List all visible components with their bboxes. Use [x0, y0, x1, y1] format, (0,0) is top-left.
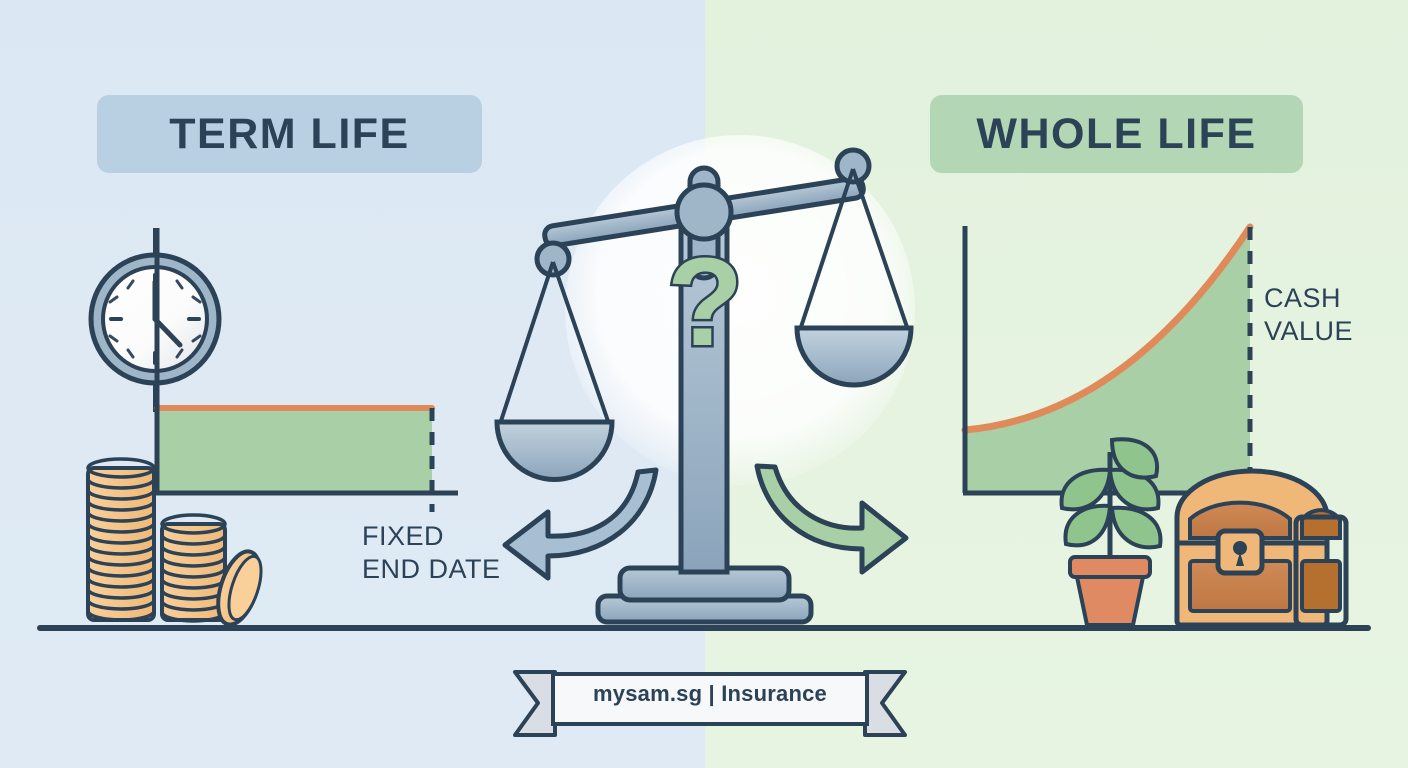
- question-mark-icon: ?: [667, 233, 743, 372]
- fixed-end-date-line1: FIXED: [362, 520, 542, 553]
- coin-stack-icon: [88, 459, 154, 620]
- treasure-chest-icon: [1177, 471, 1346, 625]
- ribbon-label: mysam.sg | Insurance: [560, 681, 860, 707]
- illustration-layer: ?: [0, 0, 1408, 768]
- curved-arrow-right-icon: [757, 466, 906, 572]
- infographic-canvas: TERM LIFE WHOLE LIFE: [0, 0, 1408, 768]
- cash-value-label: CASH VALUE: [1264, 282, 1408, 348]
- fixed-end-date-label: FIXED END DATE: [362, 520, 542, 586]
- fixed-end-date-line2: END DATE: [362, 553, 542, 586]
- svg-text:?: ?: [667, 233, 743, 372]
- cash-value-line2: VALUE: [1264, 315, 1408, 348]
- coin-stack-small-icon: [162, 515, 225, 621]
- cash-value-line1: CASH: [1264, 282, 1408, 315]
